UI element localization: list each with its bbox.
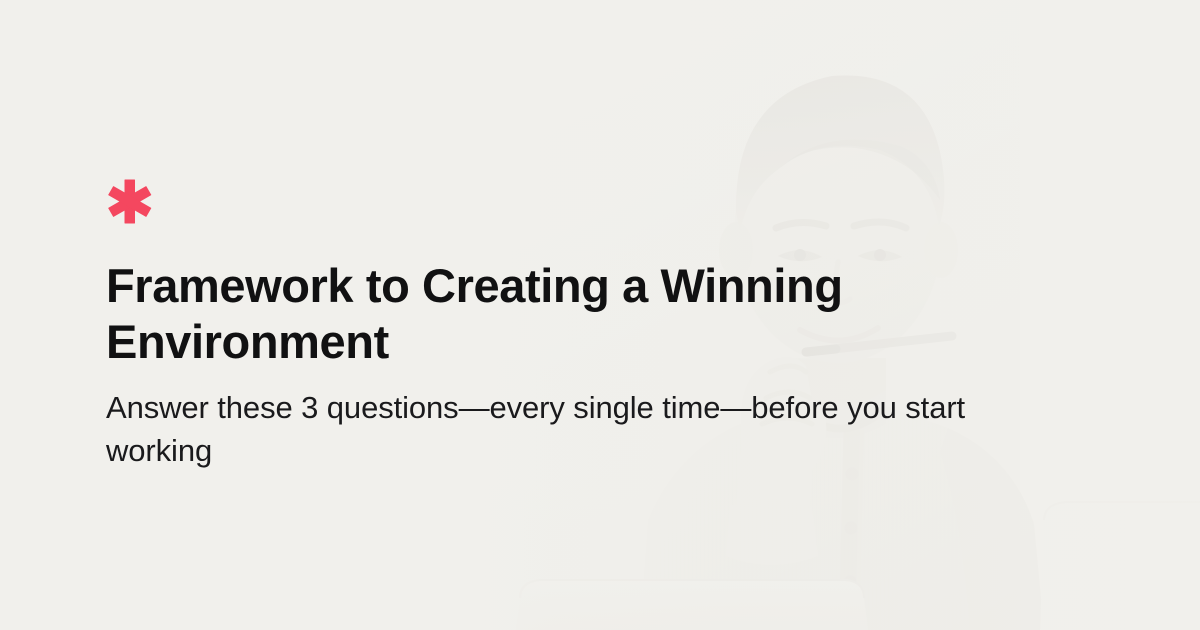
social-share-card: Framework to Creating a Winning Environm…	[0, 0, 1200, 630]
page-subtitle: Answer these 3 questions—every single ti…	[106, 386, 1046, 472]
asterisk-glyph	[106, 178, 156, 226]
asterisk-icon	[106, 178, 156, 226]
page-title: Framework to Creating a Winning Environm…	[106, 258, 966, 370]
card-content: Framework to Creating a Winning Environm…	[106, 0, 1056, 630]
